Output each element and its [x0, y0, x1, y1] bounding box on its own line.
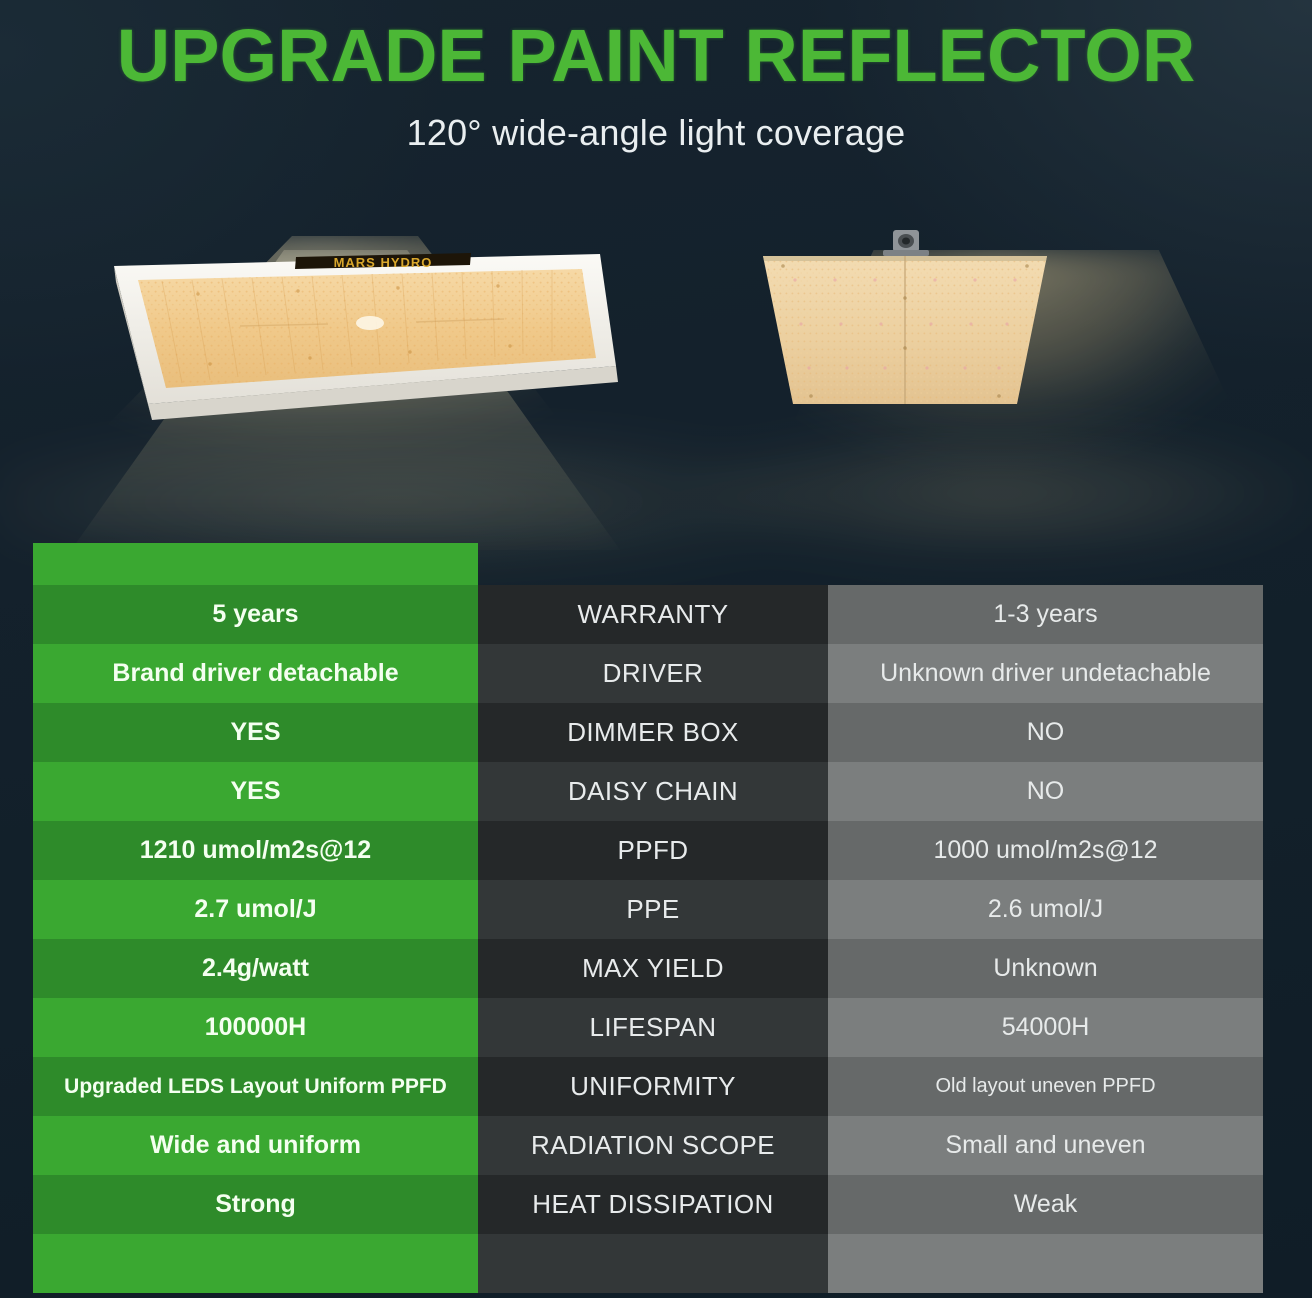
right-tail-band [828, 1234, 1263, 1293]
column-feature: WARRANTYDRIVERDIMMER BOXDAISY CHAINPPFDP… [478, 585, 828, 1293]
cell-others-ppfd: 1000 umol/m2s@12 [828, 821, 1263, 880]
cell-feature-warranty: WARRANTY [478, 585, 828, 644]
cell-others-lifespan: 54000H [828, 998, 1263, 1057]
cell-ours-dimmer-box: YES [33, 703, 478, 762]
comparison-table: 5 yearsBrand driver detachableYESYES1210… [33, 543, 1270, 1293]
ours-header-band [33, 543, 478, 585]
cell-others-warranty: 1-3 years [828, 585, 1263, 644]
cell-ours-driver: Brand driver detachable [33, 644, 478, 703]
cell-others-uniformity: Old layout uneven PPFD [828, 1057, 1263, 1116]
cell-feature-dimmer-box: DIMMER BOX [478, 703, 828, 762]
mid-tail-band [478, 1234, 828, 1293]
cell-ours-max-yield: 2.4g/watt [33, 939, 478, 998]
hanging-bracket [883, 230, 929, 256]
cell-others-heat-dissipation: Weak [828, 1175, 1263, 1234]
cell-others-driver: Unknown driver undetachable [828, 644, 1263, 703]
cell-feature-uniformity: UNIFORMITY [478, 1057, 828, 1116]
cell-others-ppe: 2.6 umol/J [828, 880, 1263, 939]
cell-feature-driver: DRIVER [478, 644, 828, 703]
product-image-competitor-panel [755, 228, 1055, 413]
cell-ours-daisy-chain: YES [33, 762, 478, 821]
cell-ours-warranty: 5 years [33, 585, 478, 644]
cell-others-daisy-chain: NO [828, 762, 1263, 821]
cell-others-max-yield: Unknown [828, 939, 1263, 998]
cell-feature-ppe: PPE [478, 880, 828, 939]
cell-feature-heat-dissipation: HEAT DISSIPATION [478, 1175, 828, 1234]
cell-ours-ppe: 2.7 umol/J [33, 880, 478, 939]
left-tail-band [33, 1234, 478, 1293]
header: UPGRADE PAINT REFLECTOR 120° wide-angle … [0, 0, 1312, 154]
cell-feature-lifespan: LIFESPAN [478, 998, 828, 1057]
cell-others-radiation-scope: Small and uneven [828, 1116, 1263, 1175]
cell-feature-ppfd: PPFD [478, 821, 828, 880]
cell-feature-max-yield: MAX YIELD [478, 939, 828, 998]
column-ours: 5 yearsBrand driver detachableYESYES1210… [33, 543, 478, 1293]
cell-ours-lifespan: 100000H [33, 998, 478, 1057]
cell-ours-heat-dissipation: Strong [33, 1175, 478, 1234]
page-title: UPGRADE PAINT REFLECTOR [0, 0, 1312, 96]
cell-ours-uniformity: Upgraded LEDS Layout Uniform PPFD [33, 1057, 478, 1116]
page-subtitle: 120° wide-angle light coverage [0, 96, 1312, 154]
svg-text:MARS HYDRO: MARS HYDRO [334, 255, 433, 270]
cell-others-dimmer-box: NO [828, 703, 1263, 762]
cell-feature-radiation-scope: RADIATION SCOPE [478, 1116, 828, 1175]
cell-ours-ppfd: 1210 umol/m2s@12 [33, 821, 478, 880]
column-others: 1-3 yearsUnknown driver undetachableNONO… [828, 585, 1263, 1293]
cell-ours-radiation-scope: Wide and uniform [33, 1116, 478, 1175]
product-image-mars-hydro-panel: MARS HYDRO [70, 236, 630, 421]
cell-feature-daisy-chain: DAISY CHAIN [478, 762, 828, 821]
